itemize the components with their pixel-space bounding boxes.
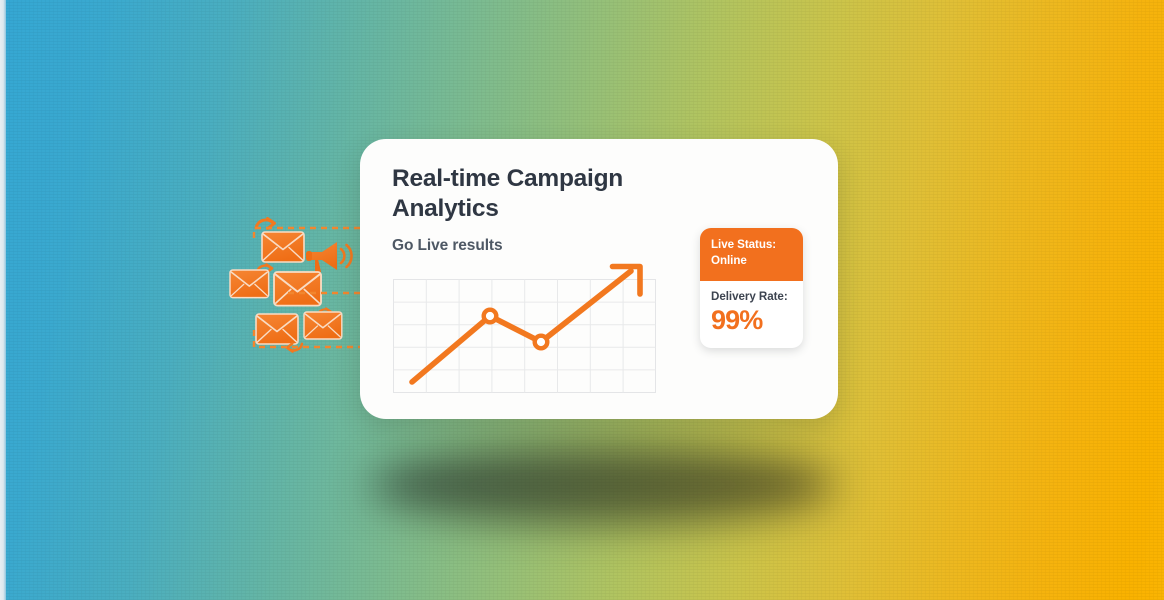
connector-line-bottom: [254, 330, 370, 347]
delivery-rate-panel: Delivery Rate: 99%: [700, 281, 803, 335]
illustration-canvas: Real-time Campaign Analytics Go Live res…: [0, 0, 1164, 600]
page-title: Real-time Campaign Analytics: [392, 164, 682, 224]
chart-subtitle: Go Live results: [392, 237, 502, 255]
analytics-card: Real-time Campaign Analytics Go Live res…: [360, 139, 838, 419]
line-chart: [393, 269, 655, 394]
delivery-rate-value: 99%: [711, 305, 803, 335]
live-status-value: Online: [711, 253, 803, 269]
live-status-label: Live Status:: [711, 237, 803, 253]
delivery-rate-label: Delivery Rate:: [711, 290, 803, 304]
chart-data-point: [535, 336, 548, 349]
connector-line-top: [254, 228, 370, 238]
page-left-edge: [0, 0, 6, 600]
card-drop-shadow: [370, 446, 835, 524]
chart-data-point: [484, 310, 497, 323]
live-status-panel: Live Status: Online: [700, 228, 803, 281]
status-badge: Live Status: Online Delivery Rate: 99%: [700, 228, 803, 348]
